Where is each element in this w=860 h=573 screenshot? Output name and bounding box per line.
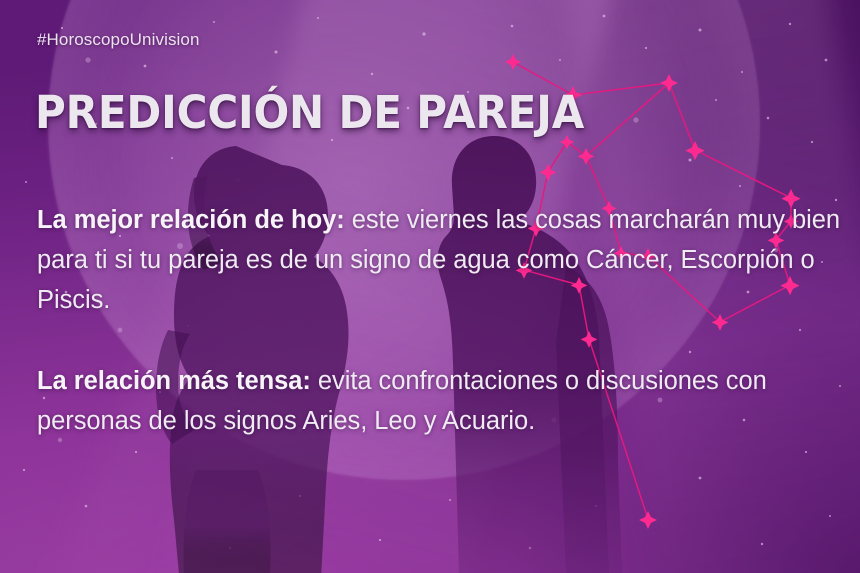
paragraph-best-match: La mejor relación de hoy: este viernes l…	[37, 200, 843, 320]
paragraph-2-lead: La relación más tensa:	[37, 367, 311, 395]
paragraph-tense-match: La relación más tensa: evita confrontaci…	[37, 361, 843, 441]
prediction-body: La mejor relación de hoy: este viernes l…	[37, 200, 843, 441]
horoscope-card: #HoroscopoUnivision PREDICCIÓN DE PAREJA…	[0, 0, 860, 573]
page-title: PREDICCIÓN DE PAREJA	[35, 90, 584, 135]
content-layer: #HoroscopoUnivision PREDICCIÓN DE PAREJA…	[0, 0, 860, 573]
hashtag-label: #HoroscopoUnivision	[37, 30, 200, 50]
paragraph-1-lead: La mejor relación de hoy:	[37, 206, 345, 234]
